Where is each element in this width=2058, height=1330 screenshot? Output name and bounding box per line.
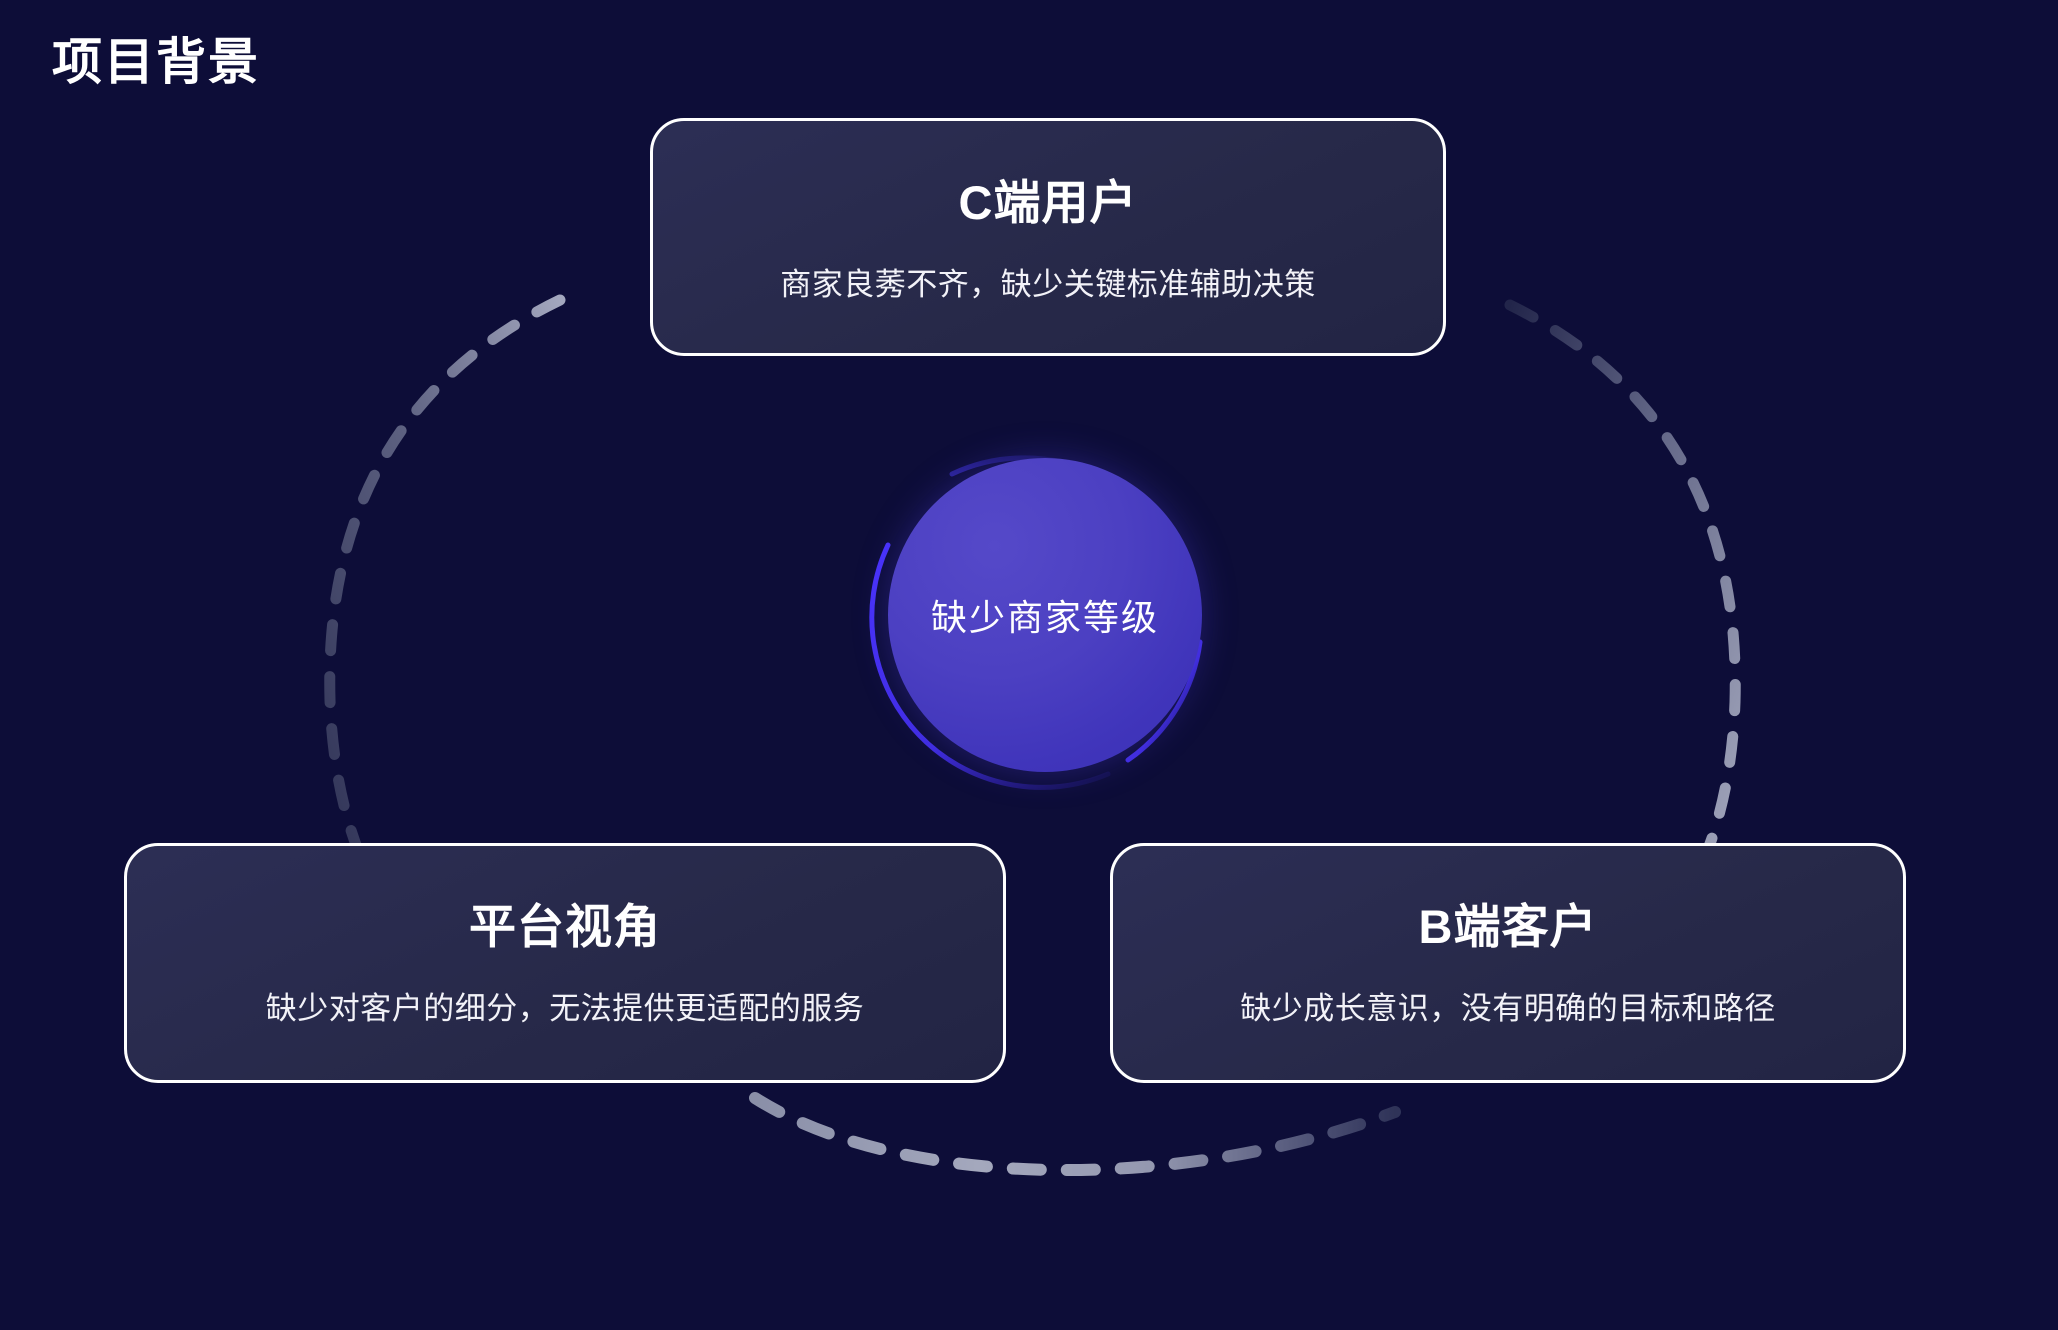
card-c-user-title: C端用户 xyxy=(959,174,1138,233)
card-c-user[interactable]: C端用户 商家良莠不齐，缺少关键标准辅助决策 xyxy=(650,118,1446,356)
hub-disc: 缺少商家等级 xyxy=(888,458,1202,772)
connector-bottom-arc xyxy=(755,1098,1395,1170)
card-c-user-desc: 商家良莠不齐，缺少关键标准辅助决策 xyxy=(780,263,1316,306)
connector-left-arc xyxy=(330,300,560,930)
connector-right-arc xyxy=(1510,305,1735,930)
card-b-client[interactable]: B端客户 缺少成长意识，没有明确的目标和路径 xyxy=(1110,843,1906,1083)
card-b-client-title: B端客户 xyxy=(1419,898,1598,957)
card-platform-desc: 缺少对客户的细分，无法提供更适配的服务 xyxy=(266,987,865,1030)
card-b-client-desc: 缺少成长意识，没有明确的目标和路径 xyxy=(1240,987,1776,1030)
slide-canvas: 项目背景 xyxy=(0,0,2058,1330)
card-platform[interactable]: 平台视角 缺少对客户的细分，无法提供更适配的服务 xyxy=(124,843,1006,1083)
center-hub[interactable]: 缺少商家等级 xyxy=(860,430,1230,800)
hub-label: 缺少商家等级 xyxy=(931,589,1159,641)
card-platform-title: 平台视角 xyxy=(469,898,661,957)
